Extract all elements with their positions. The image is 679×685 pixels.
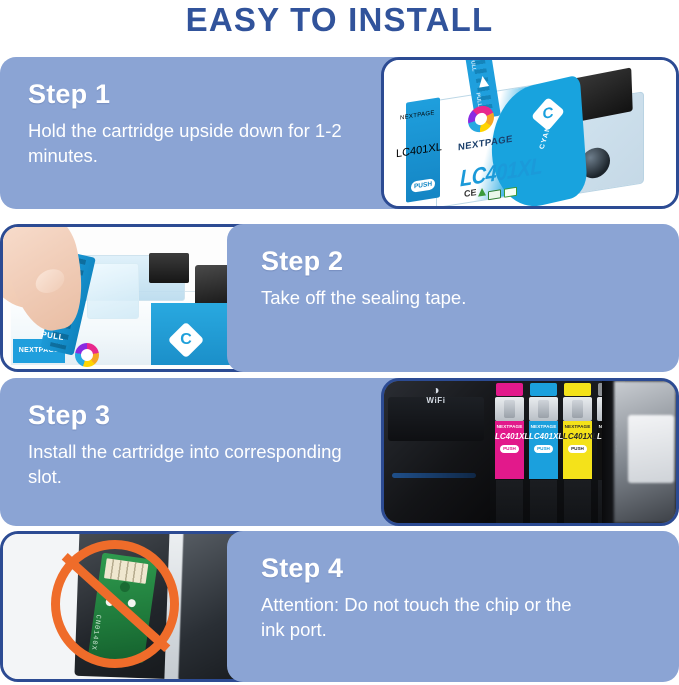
step-4-text-panel: Step 4 Attention: Do not touch the chip …	[227, 531, 679, 682]
step-3-photo-inner: ◑ WiFi NEXTPAGE LC401XL PUSH	[384, 381, 676, 523]
cartridge-label: NEXTPAGE LC401XL PUSH	[529, 421, 558, 479]
cartridge-brand: NEXTPAGE	[529, 424, 558, 429]
cartridge-tank	[530, 480, 557, 523]
cyan-color-letter: C	[536, 100, 560, 128]
cartridge-push-tab: PUSH	[534, 445, 553, 453]
cartridge-clear-window	[87, 263, 139, 319]
step-1-photo: NEXTPAGE LC401XL PUSH PULL PULL NEXTPAGE…	[381, 57, 679, 209]
cartridge-side-band: NEXTPAGE LC401XL PUSH	[406, 97, 440, 202]
cartridge-push-tab: PUSH	[500, 445, 519, 453]
cartridge-tank	[564, 480, 591, 523]
cartridge-push-tab: PUSH	[568, 445, 587, 453]
cartridge-color-cap	[564, 383, 591, 396]
cartridge-label: NEXTPAGE LC401XL PUSH	[495, 421, 524, 479]
step-row-4: CN0140X Step 4 Attention: Do not touch t…	[0, 531, 679, 682]
page-title: EASY TO INSTALL	[0, 1, 679, 39]
cartridge-model: LC401XL	[563, 432, 592, 441]
cartridge-handle	[495, 397, 524, 421]
cartridge-handle	[529, 397, 558, 421]
step-row-1: Step 1 Hold the cartridge upside down fo…	[0, 57, 679, 209]
recycle-mark-icon	[478, 187, 486, 196]
cyan-color-letter: C	[173, 327, 199, 353]
step-row-2: C NEXTPAGE PULL Step 2 Take off the seal…	[0, 224, 679, 372]
cartridge-side-brand: NEXTPAGE	[400, 108, 446, 121]
step-4-heading: Step 4	[261, 554, 651, 582]
step-3-description: Install the cartridge into corresponding…	[28, 440, 358, 489]
background-object	[628, 415, 674, 483]
cartridge-color-cap	[530, 383, 557, 396]
pull-label-top: PULL	[469, 60, 477, 72]
ce-mark-icon: CE	[464, 187, 477, 199]
step-1-description: Hold the cartridge upside down for 1-2 m…	[28, 119, 358, 168]
cartridge-model: LC401XL	[529, 432, 558, 441]
fingernail	[32, 265, 69, 298]
cartridge-handle	[563, 397, 592, 421]
cartridge-slot-cyan: NEXTPAGE LC401XL PUSH	[528, 383, 559, 523]
step-1-photo-inner: NEXTPAGE LC401XL PUSH PULL PULL NEXTPAGE…	[384, 60, 676, 206]
step-row-3: Step 3 Install the cartridge into corres…	[0, 378, 679, 526]
cartridge-slot-yellow: NEXTPAGE LC401XL PUSH	[562, 383, 593, 523]
cartridge-label: NEXTPAGE LC401XL PUSH	[563, 421, 592, 479]
cartridge-push-tab: PUSH	[411, 178, 435, 193]
cartridge-dark-top	[149, 253, 189, 283]
nextpage-droplet-logo-icon	[75, 343, 99, 367]
wifi-icon: ◑	[410, 384, 462, 396]
pull-arrow-icon	[477, 75, 489, 87]
pull-label: PULL	[41, 330, 65, 342]
step-2-heading: Step 2	[261, 247, 651, 275]
cartridge-brand: NEXTPAGE	[563, 424, 592, 429]
cartridge-tank	[496, 480, 523, 523]
cartridge-slot-magenta: NEXTPAGE LC401XL PUSH	[494, 383, 525, 523]
step-3-heading: Step 3	[28, 401, 424, 429]
cartridge-color-cap	[496, 383, 523, 396]
wifi-indicator: ◑ WiFi	[410, 384, 462, 405]
step-1-heading: Step 1	[28, 80, 424, 108]
step-4-description: Attention: Do not touch the chip or the …	[261, 593, 591, 642]
cartridge-brand: NEXTPAGE	[495, 424, 524, 429]
cartridge-model: LC401XL	[495, 432, 524, 441]
wifi-label: WiFi	[410, 396, 462, 405]
step-2-text-panel: Step 2 Take off the sealing tape.	[227, 224, 679, 372]
printer-slot-line	[392, 473, 476, 478]
easy-to-install-infographic: EASY TO INSTALL Step 1 Hold the cartridg…	[0, 0, 679, 685]
step-2-description: Take off the sealing tape.	[261, 286, 591, 310]
cyan-color-badge: C	[168, 322, 205, 359]
step-3-photo: ◑ WiFi NEXTPAGE LC401XL PUSH	[381, 378, 679, 526]
